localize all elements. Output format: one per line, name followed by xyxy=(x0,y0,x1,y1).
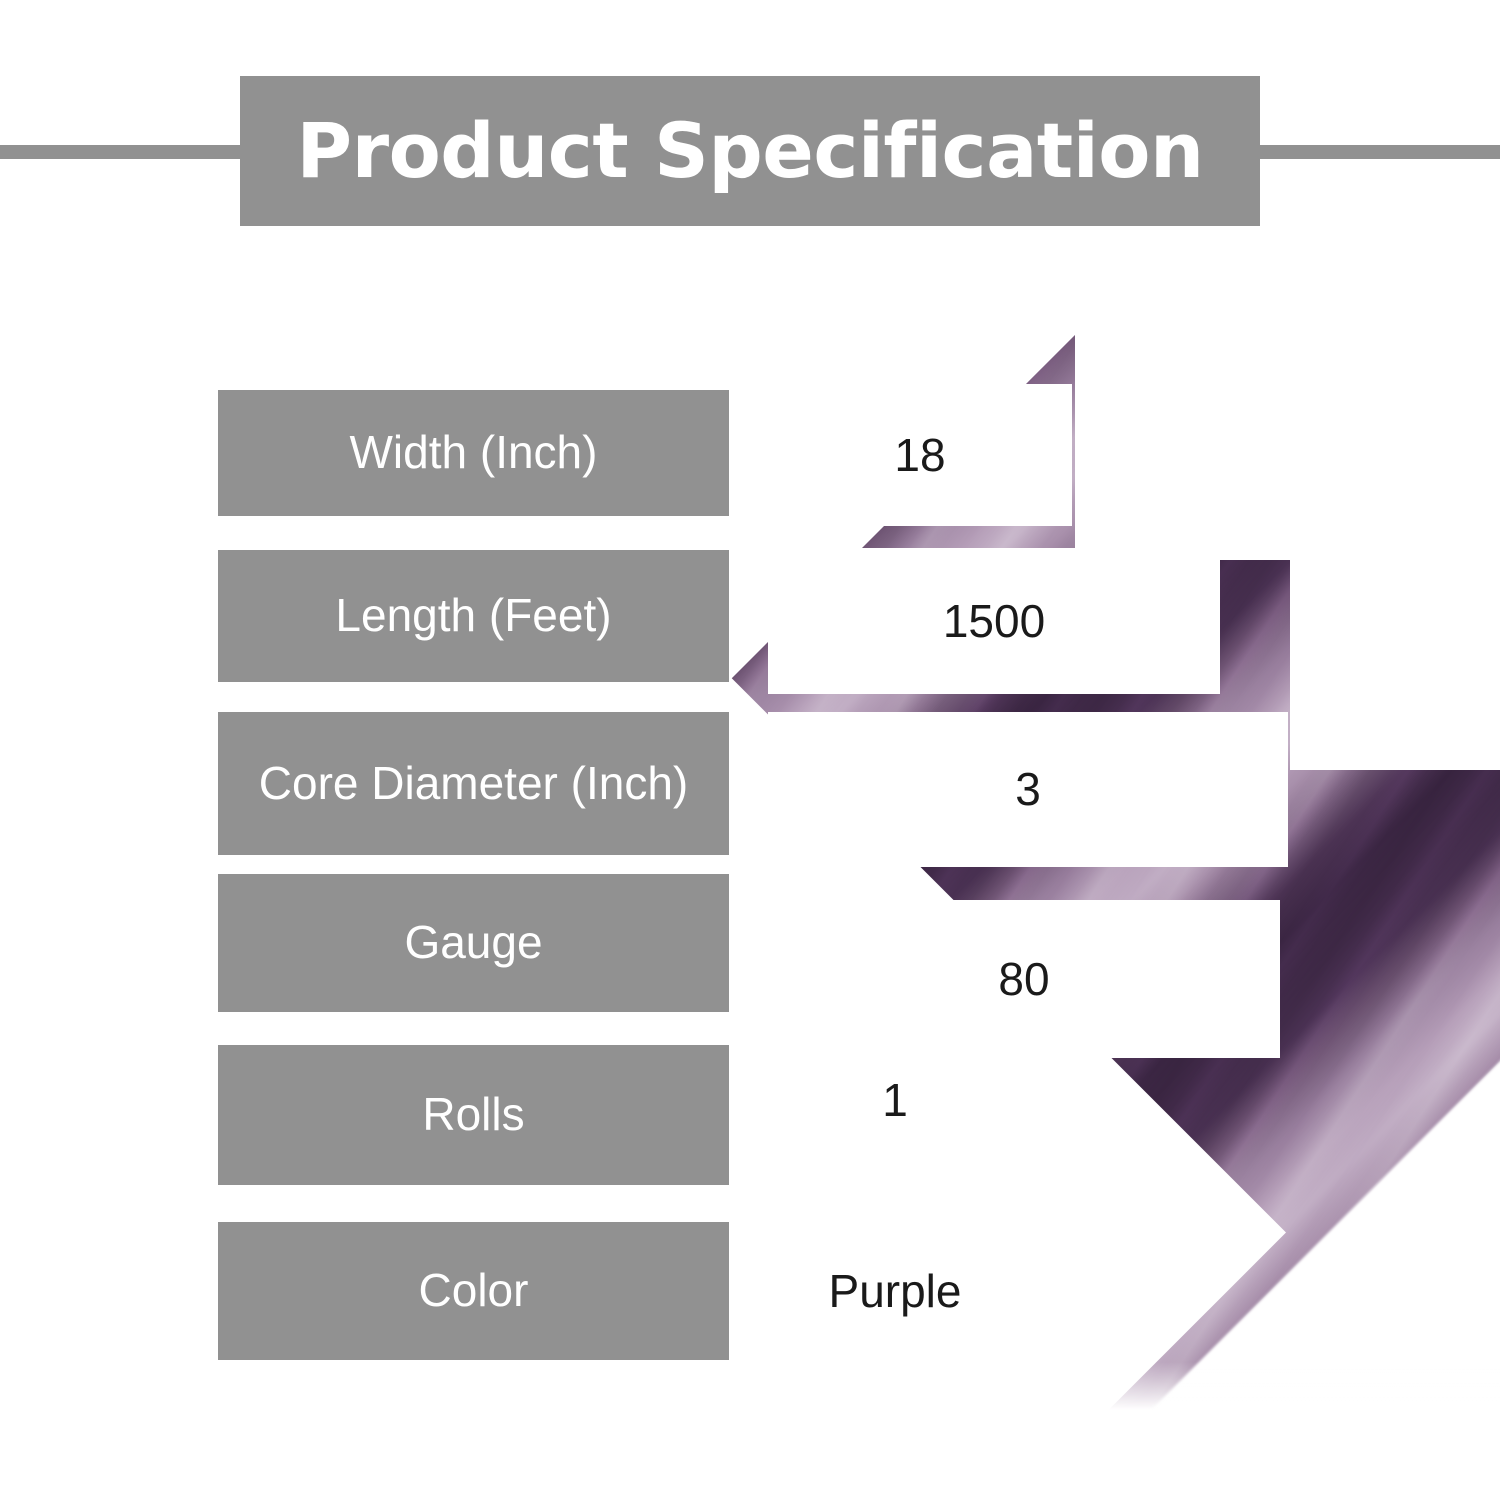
spec-label-width: Width (Inch) xyxy=(218,390,729,516)
spec-label-core-diameter: Core Diameter (Inch) xyxy=(218,712,729,855)
spec-value-length: 1500 xyxy=(768,548,1220,694)
spec-label-color: Color xyxy=(218,1222,729,1360)
spec-value-color: Purple xyxy=(768,1224,1022,1358)
spec-label-gauge: Gauge xyxy=(218,874,729,1012)
header-rule-left xyxy=(0,145,246,159)
title-banner: Product Specification xyxy=(240,76,1260,226)
header-rule-right xyxy=(1255,145,1500,159)
product-specification-page: Product Specification Width (Inch) 18 Le… xyxy=(0,0,1500,1500)
spec-label-rolls: Rolls xyxy=(218,1045,729,1185)
page-title: Product Specification xyxy=(296,113,1203,189)
header: Product Specification xyxy=(0,0,1500,300)
spec-value-width: 18 xyxy=(768,384,1072,526)
spec-label-length: Length (Feet) xyxy=(218,550,729,682)
spec-value-rolls: 1 xyxy=(768,1033,1022,1168)
spec-value-core-diameter: 3 xyxy=(768,712,1288,867)
